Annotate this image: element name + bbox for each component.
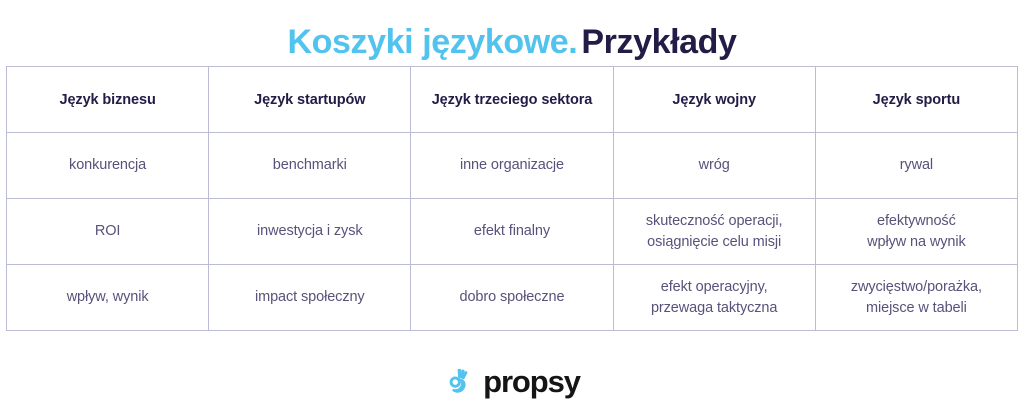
language-table-container: Język biznesu Język startupów Język trze… — [6, 66, 1018, 331]
page-title-accent: Koszyki językowe. — [287, 23, 577, 61]
table-header-cell-jezyk-startupow: Język startupów — [209, 67, 411, 133]
cell-line: inne organizacje — [419, 155, 604, 176]
cell-line: benchmarki — [217, 155, 402, 176]
table-cell: skuteczność operacji, osiągnięcie celu m… — [613, 199, 815, 265]
cell-line: rywal — [824, 155, 1009, 176]
table-cell: rywal — [815, 133, 1017, 199]
cell-line: skuteczność operacji, — [622, 211, 807, 232]
table-cell: efekt operacyjny, przewaga taktyczna — [613, 265, 815, 331]
cell-line: efektywność — [824, 211, 1009, 232]
table-header-cell-jezyk-wojny: Język wojny — [613, 67, 815, 133]
table-cell: zwycięstwo/porażka, miejsce w tabeli — [815, 265, 1017, 331]
table-header-cell-jezyk-trzeciego-sektora: Język trzeciego sektora — [411, 67, 613, 133]
cell-line: wróg — [622, 155, 807, 176]
table-cell: benchmarki — [209, 133, 411, 199]
table-cell: ROI — [7, 199, 209, 265]
cell-line: efekt finalny — [419, 221, 604, 242]
cell-line: inwestycja i zysk — [217, 221, 402, 242]
cell-line: konkurencja — [15, 155, 200, 176]
footer-logo: propsy — [0, 361, 1024, 401]
slide-root: Koszyki językowe.Przykłady Język biznesu… — [0, 0, 1024, 409]
table-cell: wpływ, wynik — [7, 265, 209, 331]
table-cell: inwestycja i zysk — [209, 199, 411, 265]
table-cell: konkurencja — [7, 133, 209, 199]
table-header-row: Język biznesu Język startupów Język trze… — [7, 67, 1018, 133]
cell-line: wpływ, wynik — [15, 287, 200, 308]
ok-hand-icon — [444, 366, 474, 396]
table-header-cell-jezyk-biznesu: Język biznesu — [7, 67, 209, 133]
table-cell: impact społeczny — [209, 265, 411, 331]
table-cell: inne organizacje — [411, 133, 613, 199]
language-table: Język biznesu Język startupów Język trze… — [6, 66, 1018, 331]
logo-wordmark: propsy — [483, 366, 580, 397]
table-cell: dobro społeczne — [411, 265, 613, 331]
table-row: wpływ, wynik impact społeczny dobro społ… — [7, 265, 1018, 331]
cell-line: miejsce w tabeli — [824, 298, 1009, 319]
cell-line: zwycięstwo/porażka, — [824, 277, 1009, 298]
page-title-strong: Przykłady — [581, 23, 736, 61]
table-row: konkurencja benchmarki inne organizacje … — [7, 133, 1018, 199]
table-cell: wróg — [613, 133, 815, 199]
table-body: konkurencja benchmarki inne organizacje … — [7, 133, 1018, 331]
table-header-cell-jezyk-sportu: Język sportu — [815, 67, 1017, 133]
page-title: Koszyki językowe.Przykłady — [0, 0, 1024, 58]
cell-line: dobro społeczne — [419, 287, 604, 308]
table-header: Język biznesu Język startupów Język trze… — [7, 67, 1018, 133]
table-row: ROI inwestycja i zysk efekt finalny skut… — [7, 199, 1018, 265]
cell-line: efekt operacyjny, — [622, 277, 807, 298]
table-cell: efektywność wpływ na wynik — [815, 199, 1017, 265]
table-cell: efekt finalny — [411, 199, 613, 265]
cell-line: wpływ na wynik — [824, 232, 1009, 253]
cell-line: osiągnięcie celu misji — [622, 232, 807, 253]
cell-line: ROI — [15, 221, 200, 242]
cell-line: przewaga taktyczna — [622, 298, 807, 319]
cell-line: impact społeczny — [217, 287, 402, 308]
page-title-text: Koszyki językowe.Przykłady — [0, 22, 1024, 62]
